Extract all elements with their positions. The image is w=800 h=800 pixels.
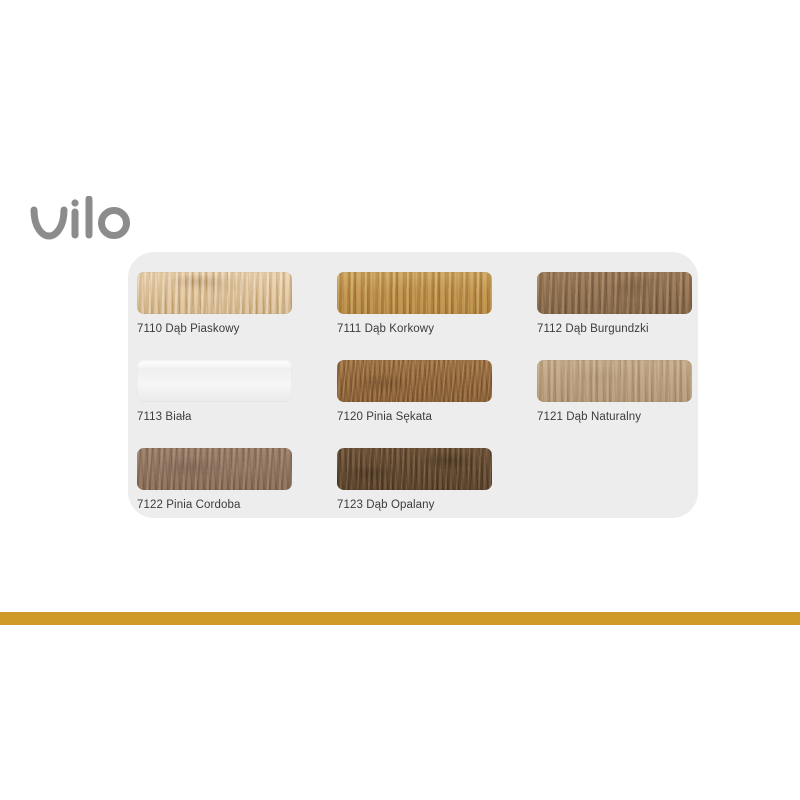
- swatch-grid: 7110 Dąb Piaskowy 7111 Dąb Korkowy 7112 …: [137, 272, 689, 536]
- swatch-item-7111[interactable]: 7111 Dąb Korkowy: [337, 272, 537, 360]
- swatch-label-7111: 7111 Dąb Korkowy: [337, 323, 537, 335]
- swatch-chip-7120[interactable]: [337, 360, 492, 402]
- swatch-item-7112[interactable]: 7112 Dąb Burgundzki: [537, 272, 689, 360]
- swatch-item-7110[interactable]: 7110 Dąb Piaskowy: [137, 272, 337, 360]
- swatch-card: 7110 Dąb Piaskowy 7111 Dąb Korkowy 7112 …: [128, 252, 698, 518]
- swatch-item-7113[interactable]: 7113 Biała: [137, 360, 337, 448]
- accent-bar: [0, 612, 800, 625]
- swatch-chip-7123[interactable]: [337, 448, 492, 490]
- swatch-label-7122: 7122 Pinia Cordoba: [137, 499, 337, 511]
- swatch-chip-7122[interactable]: [137, 448, 292, 490]
- swatch-item-7121[interactable]: 7121 Dąb Naturalny: [537, 360, 689, 448]
- swatch-item-7123[interactable]: 7123 Dąb Opalany: [337, 448, 537, 536]
- swatch-chip-7112[interactable]: [537, 272, 692, 314]
- swatch-label-7121: 7121 Dąb Naturalny: [537, 411, 689, 423]
- swatch-label-7110: 7110 Dąb Piaskowy: [137, 323, 337, 335]
- swatch-label-7123: 7123 Dąb Opalany: [337, 499, 537, 511]
- vilo-logo: [28, 196, 148, 248]
- swatch-item-7120[interactable]: 7120 Pinia Sękata: [337, 360, 537, 448]
- swatch-label-7120: 7120 Pinia Sękata: [337, 411, 537, 423]
- swatch-item-7122[interactable]: 7122 Pinia Cordoba: [137, 448, 337, 536]
- swatch-chip-7121[interactable]: [537, 360, 692, 402]
- swatch-label-7113: 7113 Biała: [137, 411, 337, 423]
- page-root: { "brand": { "logo_text": "vilo", "logo_…: [0, 0, 800, 800]
- swatch-chip-7113[interactable]: [137, 360, 292, 402]
- swatch-chip-7111[interactable]: [337, 272, 492, 314]
- swatch-label-7112: 7112 Dąb Burgundzki: [537, 323, 689, 335]
- swatch-chip-7110[interactable]: [137, 272, 292, 314]
